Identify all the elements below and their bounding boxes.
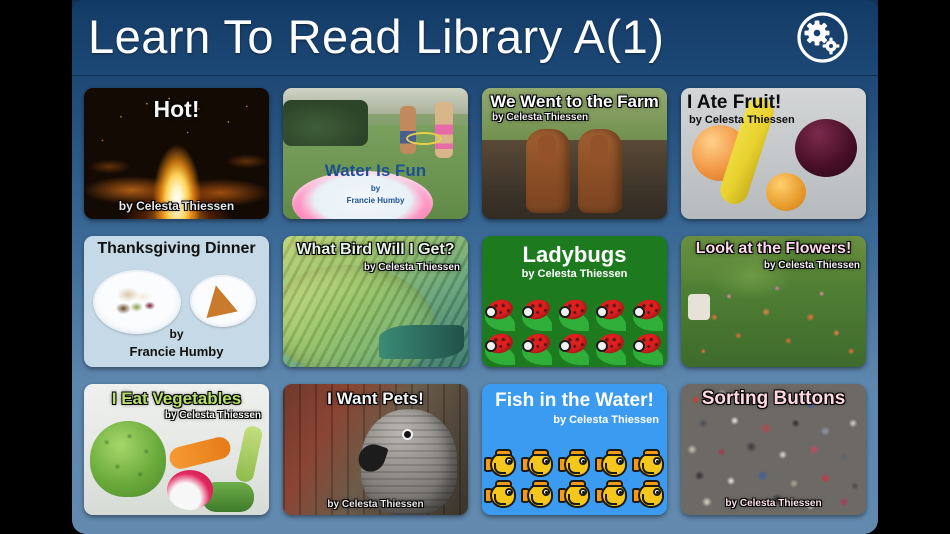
- book-title: Ladybugs: [482, 242, 667, 268]
- horse-art: [578, 129, 622, 213]
- book-title: I Eat Vegetables: [84, 389, 269, 409]
- ladybug-illustration: [482, 299, 667, 365]
- plum-art: [795, 119, 857, 177]
- ladybug-icon: [595, 299, 628, 331]
- fish-icon: [522, 451, 554, 478]
- book-byline: by Celesta Thiessen: [764, 260, 860, 271]
- book-byline: by Celesta Thiessen: [482, 268, 667, 280]
- fish-row: [482, 451, 667, 478]
- ladybug-icon: [595, 333, 628, 365]
- book-title: I Want Pets!: [283, 389, 468, 409]
- carrot-art: [167, 434, 232, 470]
- book-card-water[interactable]: Water Is Fun by Francie Humby: [283, 88, 468, 219]
- book-row: Hot! by Celesta Thiessen Water Is Fun: [84, 88, 866, 219]
- app-screen: Learn To Read Library A(1): [0, 0, 950, 534]
- book-byline-label: by: [283, 184, 468, 193]
- book-title: I Ate Fruit!: [687, 92, 781, 114]
- fish-icon: [633, 482, 665, 509]
- mud-art: [482, 140, 667, 219]
- app-header: Learn To Read Library A(1): [72, 0, 878, 75]
- book-byline: Francie Humby: [283, 196, 468, 205]
- child-art: [400, 106, 416, 154]
- horse-art: [526, 129, 570, 213]
- fish-icon: [596, 451, 628, 478]
- fish-icon: [559, 451, 591, 478]
- book-byline: by Celesta Thiessen: [681, 498, 866, 509]
- book-byline: by Celesta Thiessen: [492, 112, 588, 123]
- book-row: I Eat Vegetables by Celesta Thiessen I W…: [84, 384, 866, 515]
- page-title: Learn To Read Library A(1): [88, 2, 664, 72]
- fish-row: [482, 482, 667, 509]
- book-grid: Hot! by Celesta Thiessen Water Is Fun: [72, 75, 878, 534]
- ladybug-icon: [632, 299, 665, 331]
- book-card-thanksgiving[interactable]: Thanksgiving Dinner by Francie Humby: [84, 236, 269, 367]
- fish-icon: [522, 482, 554, 509]
- ladybug-icon: [558, 299, 591, 331]
- book-card-fruit[interactable]: I Ate Fruit! by Celesta Thiessen: [681, 88, 866, 219]
- ladybug-row: [482, 299, 667, 331]
- hose-art: [406, 132, 442, 145]
- book-byline-label: by: [84, 327, 269, 341]
- ladybug-row: [482, 333, 667, 365]
- book-byline: by Celesta Thiessen: [364, 262, 460, 273]
- ladybug-icon: [521, 333, 554, 365]
- hedge-art: [283, 100, 368, 146]
- gears-icon: [796, 11, 849, 64]
- book-byline: by Celesta Thiessen: [553, 414, 659, 426]
- book-card-ladybugs[interactable]: Ladybugs by Celesta Thiessen: [482, 236, 667, 367]
- fish-illustration: [482, 451, 667, 509]
- book-byline: by Celesta Thiessen: [84, 199, 269, 213]
- book-card-fish[interactable]: Fish in the Water! by Celesta Thiessen: [482, 384, 667, 515]
- celery-art: [234, 425, 263, 484]
- eye-art: [402, 429, 413, 440]
- book-row: Thanksgiving Dinner by Francie Humby Wha…: [84, 236, 866, 367]
- fish-icon: [485, 482, 517, 509]
- book-byline: by Celesta Thiessen: [165, 410, 261, 421]
- fish-icon: [559, 482, 591, 509]
- book-title: We Went to the Farm: [482, 92, 667, 112]
- apricot-art: [766, 173, 806, 211]
- book-byline: Francie Humby: [84, 344, 269, 359]
- dinner-plate-art: [93, 270, 181, 334]
- book-card-bird[interactable]: What Bird Will I Get? by Celesta Thiesse…: [283, 236, 468, 367]
- book-title: Hot!: [84, 96, 269, 123]
- ladybug-icon: [484, 333, 517, 365]
- radish-art: [167, 470, 213, 510]
- pie-slice-art: [200, 282, 238, 318]
- ladybug-icon: [558, 333, 591, 365]
- book-card-buttons[interactable]: Sorting Buttons by Celesta Thiessen: [681, 384, 866, 515]
- book-card-hot[interactable]: Hot! by Celesta Thiessen: [84, 88, 269, 219]
- book-title: Fish in the Water!: [482, 390, 667, 412]
- ladybug-icon: [484, 299, 517, 331]
- book-card-farm[interactable]: We Went to the Farm by Celesta Thiessen: [482, 88, 667, 219]
- book-title: Sorting Buttons: [681, 388, 866, 410]
- broccoli-art: [90, 421, 166, 497]
- app-panel: Learn To Read Library A(1): [72, 0, 878, 534]
- book-byline: by Celesta Thiessen: [689, 114, 795, 126]
- pie-plate-art: [190, 275, 256, 327]
- ladybug-icon: [521, 299, 554, 331]
- book-title: Water Is Fun: [283, 161, 468, 181]
- fish-icon: [633, 451, 665, 478]
- book-byline: by Celesta Thiessen: [283, 499, 468, 510]
- fish-icon: [596, 482, 628, 509]
- fish-icon: [485, 451, 517, 478]
- book-card-vegetables[interactable]: I Eat Vegetables by Celesta Thiessen: [84, 384, 269, 515]
- settings-button[interactable]: [796, 11, 849, 64]
- book-title: Thanksgiving Dinner: [84, 240, 269, 258]
- book-card-flowers[interactable]: Look at the Flowers! by Celesta Thiessen: [681, 236, 866, 367]
- child-art: [435, 102, 453, 158]
- book-title: What Bird Will I Get?: [283, 241, 468, 259]
- ladybug-icon: [632, 333, 665, 365]
- book-card-pets[interactable]: I Want Pets! by Celesta Thiessen: [283, 384, 468, 515]
- tail-art: [379, 325, 464, 359]
- book-title: Look at the Flowers!: [681, 240, 866, 258]
